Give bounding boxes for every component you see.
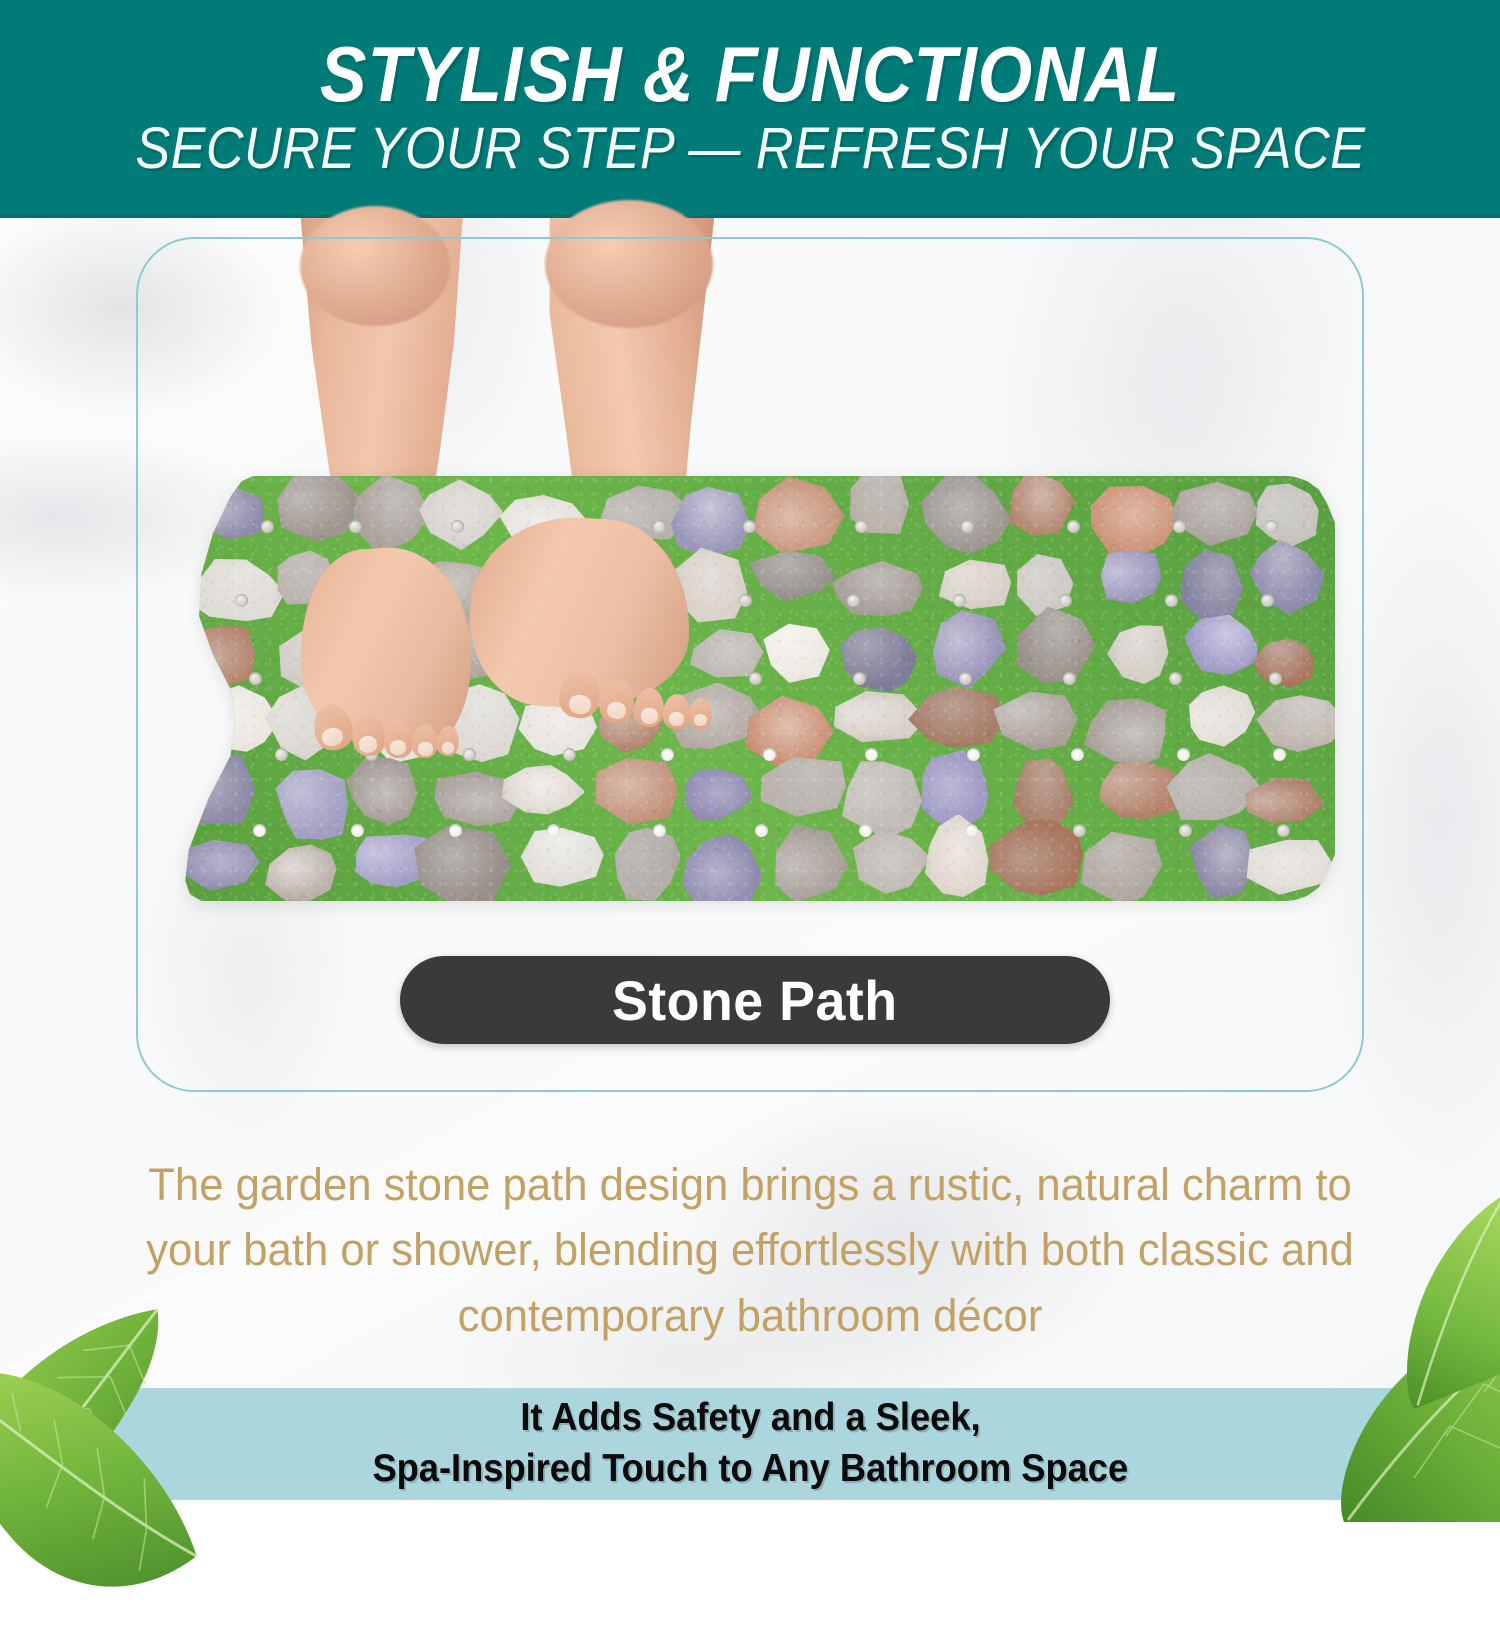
- product-description: The garden stone path design brings a ru…: [76, 1152, 1424, 1348]
- drainage-hole: [855, 520, 868, 533]
- stone-tile: [1164, 750, 1264, 827]
- stone-tile: [411, 823, 513, 901]
- drainage-hole: [847, 594, 860, 607]
- drainage-hole: [1165, 594, 1178, 607]
- drainage-hole: [235, 594, 248, 607]
- drainage-hole: [1261, 594, 1274, 607]
- drainage-hole: [261, 520, 274, 533]
- drainage-hole: [763, 748, 776, 761]
- drainage-hole: [749, 672, 762, 685]
- drainage-hole: [661, 748, 674, 761]
- drainage-hole: [1059, 594, 1072, 607]
- stone-tile: [1080, 477, 1182, 559]
- stone-tile: [1083, 695, 1174, 768]
- stone-tile: [760, 615, 836, 687]
- drainage-hole: [653, 520, 666, 533]
- stone-tile: [842, 476, 912, 543]
- drainage-hole: [965, 824, 978, 837]
- stone-tile: [415, 477, 502, 550]
- header-banner: STYLISH & FUNCTIONAL SECURE YOUR STEP — …: [0, 0, 1500, 218]
- stone-tile: [349, 476, 433, 556]
- description-line-2: your bath or shower, blending effortless…: [76, 1217, 1424, 1282]
- banner-line-2: Spa-Inspired Touch to Any Bathroom Space: [372, 1444, 1128, 1495]
- drainage-hole: [959, 672, 972, 685]
- stone-tile: [837, 623, 920, 693]
- drainage-hole: [547, 824, 560, 837]
- stone-tile: [987, 690, 1088, 754]
- stone-tile: [1076, 830, 1171, 901]
- stone-tile: [1008, 547, 1079, 621]
- drainage-hole: [1179, 824, 1192, 837]
- drainage-hole: [451, 520, 464, 533]
- stone-tile: [665, 482, 752, 558]
- stone-tile: [183, 620, 262, 695]
- stone-tile: [590, 750, 687, 829]
- stone-tile: [274, 761, 356, 845]
- stone-tile: [183, 748, 260, 830]
- stone-tile: [756, 753, 856, 821]
- drainage-hole: [463, 748, 476, 761]
- drainage-hole: [1269, 672, 1282, 685]
- drainage-hole: [1063, 672, 1076, 685]
- stone-tile: [192, 488, 270, 544]
- stone-tile: [746, 546, 840, 601]
- stone-tile: [1003, 476, 1076, 542]
- stone-tile: [1182, 684, 1255, 749]
- product-name-label: Stone Path: [612, 968, 898, 1033]
- drainage-hole: [449, 824, 462, 837]
- drainage-hole: [743, 520, 756, 533]
- stone-tile: [610, 820, 680, 901]
- stone-tile: [908, 683, 1008, 750]
- stone-tile: [1179, 547, 1247, 629]
- drainage-hole: [653, 824, 666, 837]
- stone-tile: [678, 830, 762, 901]
- stone-tile: [183, 838, 269, 892]
- drainage-hole: [1273, 748, 1286, 761]
- stone-tile: [1107, 618, 1175, 691]
- stone-tile: [985, 817, 1085, 901]
- stone-tile: [1252, 635, 1322, 689]
- drainage-hole: [853, 672, 866, 685]
- model-right-knee: [545, 200, 713, 328]
- stone-tile: [1245, 539, 1324, 614]
- drainage-hole: [1169, 672, 1182, 685]
- drainage-hole: [865, 748, 878, 761]
- drainage-hole: [1177, 748, 1190, 761]
- drainage-hole: [1265, 520, 1278, 533]
- drainage-hole: [349, 520, 362, 533]
- banner-line-1: It Adds Safety and a Sleek,: [520, 1393, 980, 1444]
- stone-tile: [261, 840, 341, 901]
- stone-tile: [921, 815, 993, 900]
- drainage-hole: [967, 748, 980, 761]
- stone-tile: [838, 756, 924, 838]
- model-toenail: [417, 741, 432, 755]
- stone-tile: [1168, 480, 1263, 546]
- stone-tile: [678, 763, 752, 824]
- stone-tile: [1250, 479, 1326, 547]
- stone-tile: [1009, 604, 1095, 691]
- stone-tile: [917, 476, 1012, 554]
- drainage-hole: [249, 672, 262, 685]
- drainage-hole: [275, 748, 288, 761]
- model-left-knee: [300, 206, 450, 326]
- stone-tile: [750, 476, 846, 556]
- stone-tile: [1242, 836, 1335, 897]
- stone-tile: [1183, 614, 1264, 676]
- stone-tile: [851, 826, 930, 898]
- stone-tile: [1252, 690, 1335, 752]
- description-line-1: The garden stone path design brings a ru…: [76, 1152, 1424, 1217]
- stone-tile: [826, 561, 925, 619]
- drainage-hole: [1067, 520, 1080, 533]
- drainage-hole: [253, 824, 266, 837]
- model-toenail: [640, 707, 658, 724]
- drainage-hole: [563, 748, 576, 761]
- stone-tile: [517, 824, 607, 888]
- header-headline: STYLISH & FUNCTIONAL: [320, 35, 1180, 113]
- product-name-badge: Stone Path: [400, 956, 1110, 1044]
- stone-tile: [344, 755, 421, 825]
- drainage-hole: [1173, 520, 1186, 533]
- stone-tile: [272, 476, 360, 544]
- stone-tile: [187, 555, 285, 627]
- drainage-hole: [739, 594, 752, 607]
- drainage-hole: [1073, 824, 1086, 837]
- header-subheadline: SECURE YOUR STEP — REFRESH YOUR SPACE: [135, 119, 1365, 180]
- drainage-hole: [953, 594, 966, 607]
- drainage-hole: [859, 824, 872, 837]
- stone-tile: [1095, 544, 1168, 606]
- drainage-hole: [961, 520, 974, 533]
- drainage-hole: [755, 824, 768, 837]
- stone-tile: [935, 557, 1019, 612]
- description-line-3: contemporary bathroom décor: [76, 1283, 1424, 1348]
- drainage-hole: [1277, 824, 1290, 837]
- drainage-hole: [1071, 748, 1084, 761]
- drainage-hole: [351, 824, 364, 837]
- stone-tile: [765, 822, 854, 901]
